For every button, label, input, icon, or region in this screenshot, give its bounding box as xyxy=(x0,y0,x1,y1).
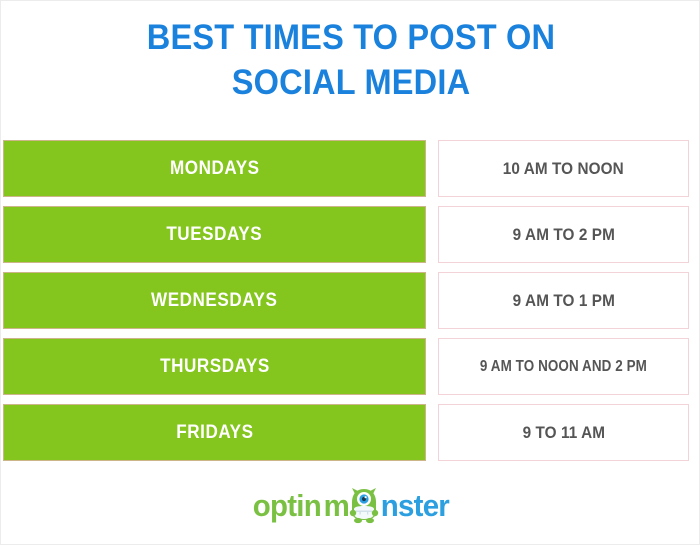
schedule-row: WEDNESDAYS 9 AM TO 1 PM xyxy=(1,272,700,329)
day-label: FRIDAYS xyxy=(176,422,253,444)
infographic-canvas: BEST TIMES TO POST ON SOCIAL MEDIA MONDA… xyxy=(0,0,700,545)
optinmonster-logo: optin m xyxy=(1,483,700,529)
time-label: 9 AM TO 1 PM xyxy=(512,291,614,311)
time-label: 9 AM TO 2 PM xyxy=(512,225,614,245)
day-label: WEDNESDAYS xyxy=(151,290,277,312)
day-label: TUESDAYS xyxy=(167,224,263,246)
title-line-1: BEST TIMES TO POST ON xyxy=(26,15,677,60)
schedule-row: TUESDAYS 9 AM TO 2 PM xyxy=(1,206,700,263)
time-box-mondays: 10 AM TO NOON xyxy=(438,140,689,197)
logo-text-m: m xyxy=(323,483,348,529)
day-bar-thursdays: THURSDAYS xyxy=(3,338,426,395)
time-box-thursdays: 9 AM TO NOON AND 2 PM xyxy=(438,338,689,395)
schedule-list: MONDAYS 10 AM TO NOON TUESDAYS 9 AM TO 2… xyxy=(1,140,700,461)
logo-text-nster: nster xyxy=(381,483,449,529)
day-bar-tuesdays: TUESDAYS xyxy=(3,206,426,263)
time-box-fridays: 9 TO 11 AM xyxy=(438,404,689,461)
schedule-row: MONDAYS 10 AM TO NOON xyxy=(1,140,700,197)
day-label: MONDAYS xyxy=(170,158,260,180)
page-title: BEST TIMES TO POST ON SOCIAL MEDIA xyxy=(1,15,700,105)
time-box-tuesdays: 9 AM TO 2 PM xyxy=(438,206,689,263)
time-label: 9 AM TO NOON AND 2 PM xyxy=(480,358,647,376)
day-bar-mondays: MONDAYS xyxy=(3,140,426,197)
monster-mascot-icon xyxy=(349,486,379,526)
schedule-row: FRIDAYS 9 TO 11 AM xyxy=(1,404,700,461)
day-bar-fridays: FRIDAYS xyxy=(3,404,426,461)
time-box-wednesdays: 9 AM TO 1 PM xyxy=(438,272,689,329)
day-bar-wednesdays: WEDNESDAYS xyxy=(3,272,426,329)
time-label: 9 TO 11 AM xyxy=(522,423,605,443)
schedule-row: THURSDAYS 9 AM TO NOON AND 2 PM xyxy=(1,338,700,395)
logo-text-optin: optin xyxy=(253,483,321,529)
title-line-2: SOCIAL MEDIA xyxy=(26,60,677,105)
day-label: THURSDAYS xyxy=(160,356,270,378)
time-label: 10 AM TO NOON xyxy=(503,159,624,179)
